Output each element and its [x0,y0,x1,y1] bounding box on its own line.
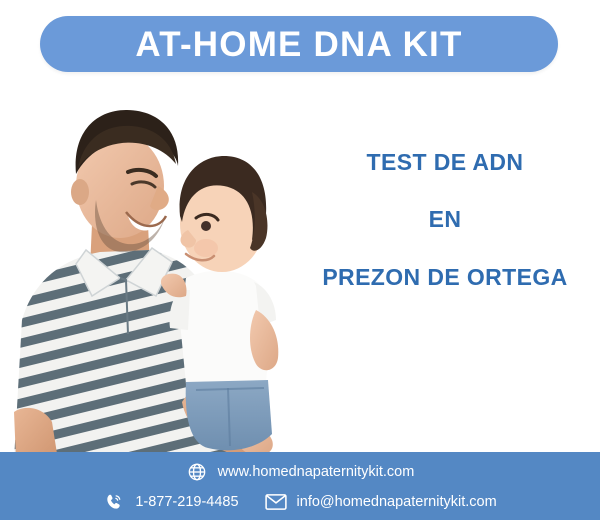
envelope-icon [265,491,287,513]
headline-line-1: TEST DE ADN [300,150,590,175]
website-item[interactable]: www.homednapaternitykit.com [186,461,415,483]
email-item[interactable]: info@homednapaternitykit.com [265,491,497,513]
poster-canvas: AT-HOME DNA KIT [0,0,600,520]
header-title: AT-HOME DNA KIT [135,27,462,62]
phone-icon [103,491,125,513]
header-banner: AT-HOME DNA KIT [40,16,558,72]
phone-item[interactable]: 1-877-219-4485 [103,491,238,513]
website-text: www.homednapaternitykit.com [218,465,415,480]
globe-icon [186,461,208,483]
headline-line-2: EN [300,207,590,232]
email-text: info@homednapaternitykit.com [297,495,497,510]
footer-contact-bar: www.homednapaternitykit.com 1-877-219-44… [0,452,600,520]
headline-block: TEST DE ADN EN PREZON DE ORTEGA [300,150,590,290]
footer-website-row: www.homednapaternitykit.com [0,457,600,487]
father-holding-toddler-photo [0,82,330,460]
phone-text: 1-877-219-4485 [135,495,238,510]
footer-phone-email-row: 1-877-219-4485 info@homednapaternitykit.… [0,487,600,517]
headline-line-3: PREZON DE ORTEGA [300,265,590,290]
